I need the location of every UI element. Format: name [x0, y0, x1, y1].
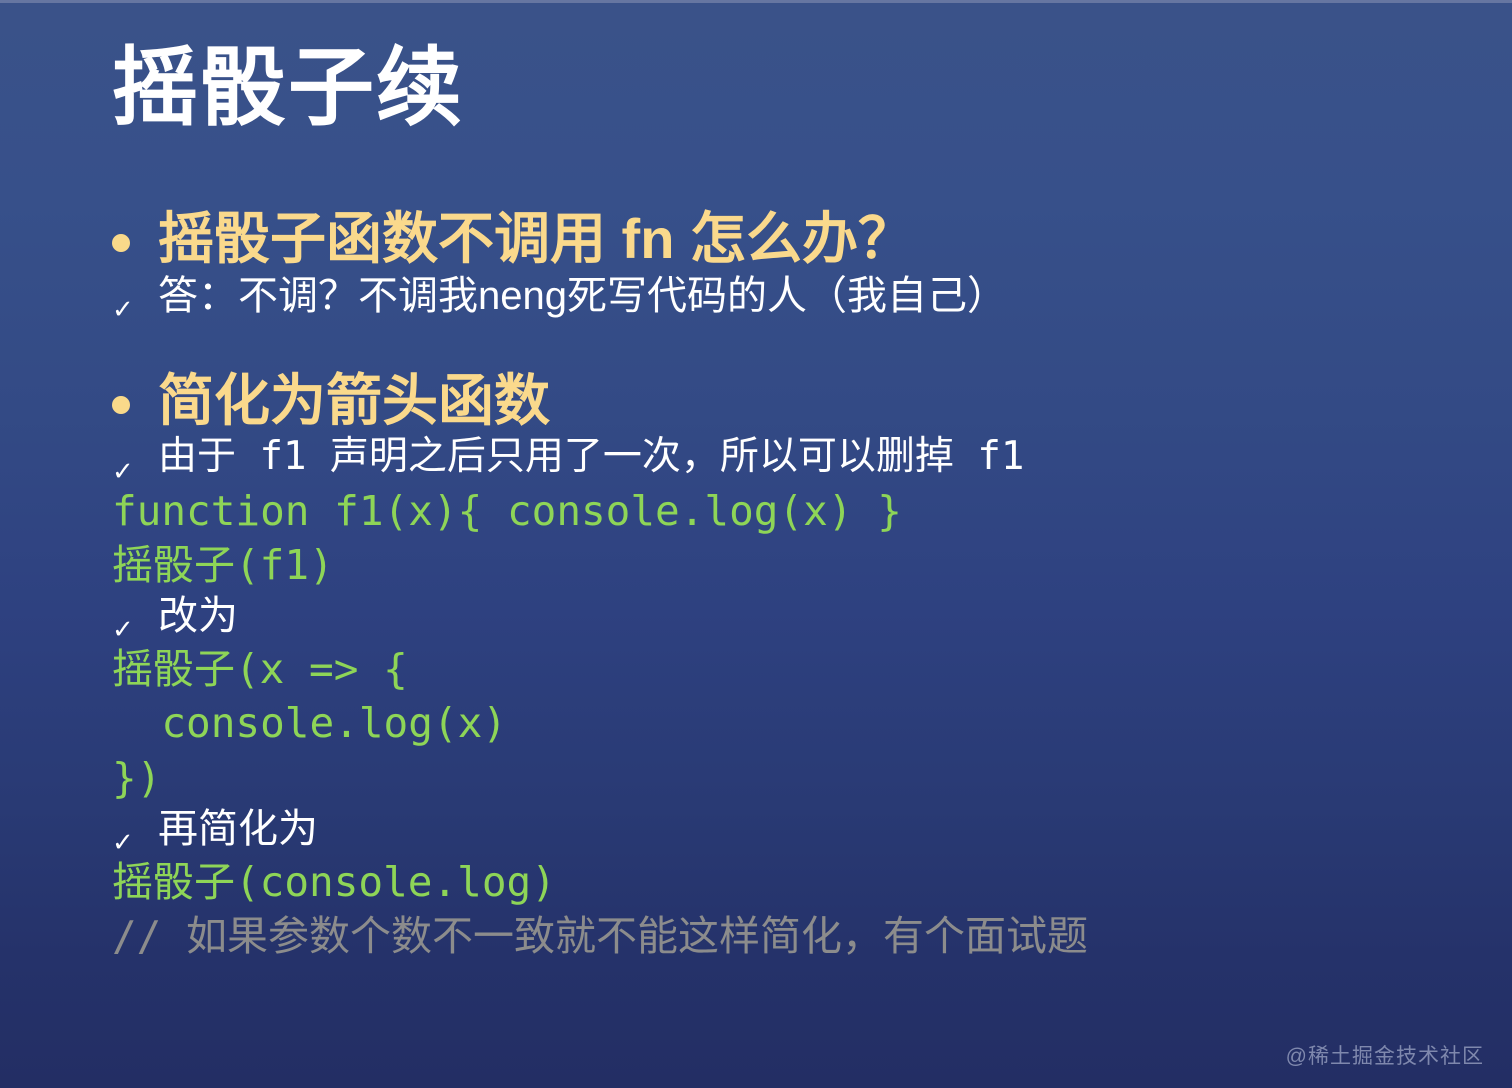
- watermark: @稀土掘金技术社区: [1286, 1040, 1484, 1070]
- code-line: 摇骰子(x => {: [112, 642, 1472, 696]
- code-line: }): [112, 751, 1472, 805]
- sub-bullet-label-2-1: 由于 f1 声明之后只用了一次，所以可以删掉 f1: [158, 434, 1024, 481]
- spacer: [112, 322, 1472, 368]
- bullet-label-1: 摇骰子函数不调用 fn 怎么办？: [158, 206, 914, 272]
- code-line: 摇骰子(console.log): [112, 855, 1472, 909]
- check-icon: ✓: [112, 616, 138, 642]
- bullet-dot-icon: [112, 234, 130, 252]
- slide-body: 摇骰子函数不调用 fn 怎么办？ ✓ 答：不调？不调我neng死写代码的人（我自…: [112, 206, 1472, 963]
- code-line: function f1(x){ console.log(x) }: [112, 484, 1472, 538]
- bullet-item-1: 摇骰子函数不调用 fn 怎么办？: [112, 206, 1472, 272]
- check-icon: ✓: [112, 458, 138, 484]
- bullet-item-2: 简化为箭头函数: [112, 368, 1472, 434]
- sub-bullet-label-3-1: 改为: [158, 592, 238, 640]
- sub-bullet-item-1-1: ✓ 答：不调？不调我neng死写代码的人（我自己）: [112, 272, 1472, 322]
- code-line: console.log(x): [112, 696, 1472, 750]
- sub-bullet-item-4-1: ✓ 再简化为: [112, 805, 1472, 855]
- code-comment-line: // 如果参数个数不一致就不能这样简化，有个面试题: [112, 909, 1472, 963]
- page-title: 摇骰子续: [112, 42, 464, 135]
- bullet-label-2: 简化为箭头函数: [158, 368, 550, 434]
- sub-bullet-item-2-1: ✓ 由于 f1 声明之后只用了一次，所以可以删掉 f1: [112, 434, 1472, 484]
- presentation-slide: 摇骰子续 摇骰子函数不调用 fn 怎么办？ ✓ 答：不调？不调我neng死写代码…: [0, 0, 1512, 1088]
- bullet-dot-icon: [112, 396, 130, 414]
- sub-bullet-item-3-1: ✓ 改为: [112, 592, 1472, 642]
- check-icon: ✓: [112, 829, 138, 855]
- sub-bullet-label-1-1: 答：不调？不调我neng死写代码的人（我自己）: [158, 272, 1007, 320]
- check-icon: ✓: [112, 296, 138, 322]
- code-line: 摇骰子(f1): [112, 538, 1472, 592]
- sub-bullet-label-4-1: 再简化为: [158, 805, 318, 853]
